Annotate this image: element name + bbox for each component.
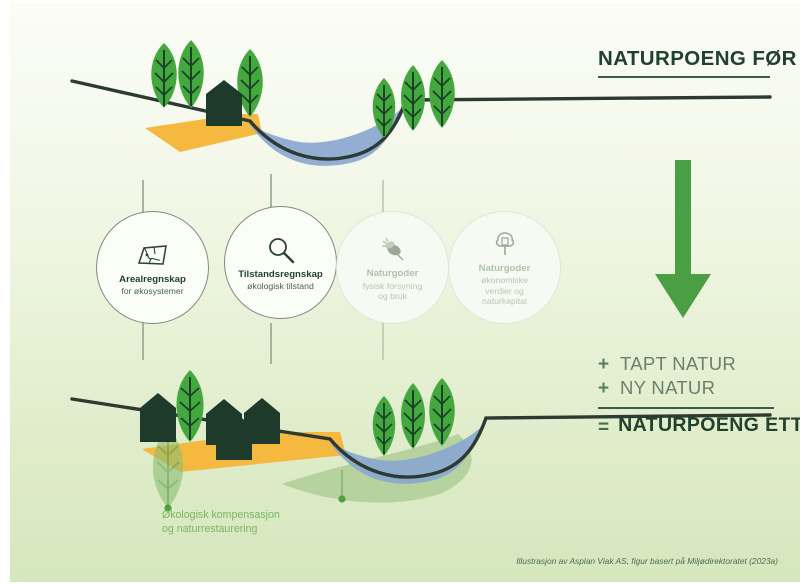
house-icon-before: [206, 80, 242, 126]
equation-label: NY NATUR: [620, 376, 715, 400]
diagram-background: NATURPOENG FØR INNGREP + TAPT NATUR + NY…: [10, 2, 800, 582]
title-before: NATURPOENG FØR INNGREP: [598, 48, 778, 78]
indicator-title: Tilstandsregnskap: [238, 269, 323, 280]
tree-icon: [177, 370, 204, 442]
indicator-arealregnskap[interactable]: Arealregnskap for økosystemer: [96, 211, 209, 324]
tree-value-icon: [491, 228, 519, 258]
credit-line: Illustrasjon av Asplan Viak AS, figur ba…: [516, 556, 778, 566]
indicator-subtitle: fysisk forsyning og bruk: [363, 281, 422, 302]
house-icon: [206, 399, 242, 445]
plus-sign: +: [598, 378, 611, 400]
indicator-title: Naturgoder: [479, 263, 531, 274]
equation-row: + TAPT NATUR: [598, 352, 778, 376]
tree-icon: [373, 396, 396, 456]
equation-block: + TAPT NATUR + NY NATUR = NATURPOENG ETT…: [598, 352, 778, 439]
tree-icon: [429, 60, 455, 128]
map-icon: [136, 239, 170, 269]
figure-canvas: NATURPOENG FØR INNGREP + TAPT NATUR + NY…: [0, 0, 800, 584]
tree-icon: [401, 383, 425, 449]
indicator-subtitle: økologisk tilstand: [247, 281, 314, 292]
title-before-rule: [598, 76, 770, 78]
equation-row: + NY NATUR: [598, 376, 778, 400]
indicator-circles: Arealregnskap for økosystemer Tilstandsr…: [96, 206, 566, 334]
tree-icon: [429, 378, 455, 446]
equals-sign: =: [598, 415, 609, 439]
indicator-subtitle: for økosystemer: [121, 286, 183, 297]
indicator-title: Naturgoder: [367, 268, 419, 279]
indicator-naturgoder-fysisk[interactable]: Naturgoder fysisk forsyning og bruk: [336, 211, 449, 324]
pollination-icon: [378, 233, 408, 263]
tree-icon: [178, 40, 204, 108]
indicator-tilstandsregnskap[interactable]: Tilstandsregnskap økologisk tilstand: [224, 206, 337, 319]
down-arrow-icon: [655, 160, 711, 318]
restoration-caption: Økologisk kompensasjon og naturrestaurer…: [162, 508, 372, 537]
tree-group-before-right: [373, 60, 455, 138]
tree-icon: [401, 65, 425, 131]
magnifier-icon: [266, 234, 296, 264]
indicator-subtitle: økonomiske verdier og naturkapital: [481, 275, 528, 307]
indicator-naturgoder-okonomiske[interactable]: Naturgoder økonomiske verdier og naturka…: [448, 211, 561, 324]
indicator-title: Arealregnskap: [119, 274, 186, 285]
title-after-bold: NATURPOENG ETTER: [618, 414, 800, 436]
equation-rule: [598, 407, 774, 409]
house-icon: [244, 398, 280, 444]
equation-label: TAPT NATUR: [620, 352, 736, 376]
equation-total: = NATURPOENG ETTER INNGREP: [598, 415, 778, 439]
title-before-bold: NATURPOENG FØR: [598, 47, 797, 70]
plus-sign: +: [598, 354, 611, 376]
house-icon: [140, 393, 176, 442]
tree-group-after-right: [373, 378, 455, 456]
